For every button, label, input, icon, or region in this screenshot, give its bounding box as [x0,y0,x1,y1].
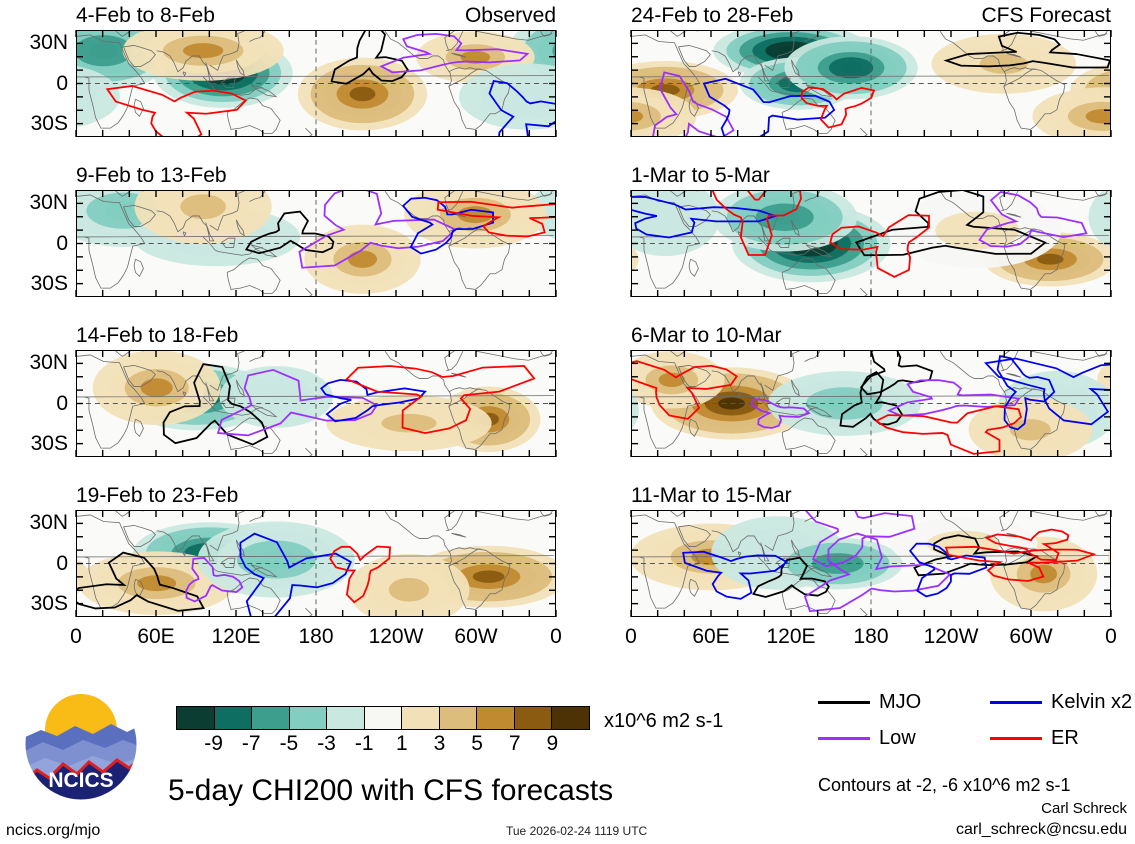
map-canvas [632,511,1110,616]
contour-fill-band [840,62,862,73]
y-axis-tick-label: 30N [8,191,68,215]
colorbar-swatch [290,707,328,729]
colorbar-tick-label: -5 [280,732,299,756]
y-axis-tick-label: 0 [8,552,68,576]
colorbar-swatch [440,707,478,729]
x-axis-tick-label: 120W [369,625,424,649]
legend-item-kelvin-x2: Kelvin x2 [990,692,1132,712]
x-axis-tick-label: 180 [853,625,888,649]
legend-item-mjo: MJO [818,692,921,712]
colorbar: -9-7-5-3-113579 [176,706,590,730]
map-panel: 6-Mar to 10-Mar [631,350,1111,457]
colorbar-tick-label: -3 [317,732,336,756]
y-axis-tick-label: 30N [8,351,68,375]
legend-item-er: ER [990,728,1079,748]
colorbar-swatch [552,707,589,729]
legend-line-swatch [990,701,1042,704]
panel-title: 11-Mar to 15-Mar [631,485,792,506]
colorbar-swatch [477,707,515,729]
map-plot-area [76,190,556,297]
colorbar-units-label: x10^6 m2 s-1 [604,710,723,733]
contour-note: Contours at -2, -6 x10^6 m2 s-1 [818,775,1071,796]
map-plot-area [76,30,556,137]
colorbar-swatch [515,707,553,729]
colorbar-tick-label: 3 [434,732,446,756]
contour-fill-band [1030,565,1057,584]
y-axis-tick-label: 30S [8,592,68,616]
map-canvas [632,191,1110,296]
x-axis-tick-label: 0 [70,625,82,649]
contour-fill-band [350,87,376,102]
colorbar-tick-label: -1 [355,732,374,756]
map-plot-area [631,350,1111,457]
y-axis-tick-label: 0 [8,232,68,256]
colorbar-tick-label: -9 [204,732,223,756]
contour-fill-band [505,86,551,108]
page-title: 5-day CHI200 with CFS forecasts [168,774,613,808]
contour-fill-band [473,570,505,582]
contour-fill-band [183,43,223,58]
x-axis-tick-label: 60E [137,625,174,649]
colorbar-tick-label: 1 [396,732,408,756]
panel-title: 14-Feb to 18-Feb [76,325,238,346]
x-axis-tick-label: 120E [766,625,815,649]
ncics-logo-text: NCICS [48,769,113,792]
legend-label: Kelvin x2 [1051,692,1132,712]
legend-line-swatch [818,701,870,704]
contour-fill-band [180,194,226,219]
map-panel: 24-Feb to 28-FebCFS Forecast [631,30,1111,137]
colorbar-swatch [215,707,253,729]
map-canvas [632,351,1110,456]
legend-label: MJO [879,692,921,712]
colorbar-swatch [177,707,215,729]
contour-fill-band [257,387,295,408]
legend-item-low: Low [818,728,916,748]
map-panel: 11-Mar to 15-Mar060E120E180120W60W0 [631,510,1111,617]
contour-fill-band [141,378,173,397]
x-axis-tick-label: 60W [1009,625,1052,649]
map-canvas [77,351,555,456]
x-axis: 060E120E180120W60W0 [631,617,1111,647]
legend-line-swatch [990,737,1042,740]
colorbar-tick-label: 7 [509,732,521,756]
author-name: Carl Schreck [1041,800,1127,817]
map-canvas [77,31,555,136]
contour-fill-band [348,251,377,268]
colorbar-swatch [327,707,365,729]
legend-line-swatch [818,737,870,740]
x-axis-tick-label: 120E [211,625,260,649]
legend-label: Low [879,728,916,748]
map-plot-area [76,510,556,617]
y-axis-tick-label: 30N [8,31,68,55]
map-panel: 19-Feb to 23-Feb30N030S060E120E180120W60… [76,510,556,617]
x-axis-tick-label: 60W [454,625,497,649]
map-panel: 9-Feb to 13-Feb30N030S [76,190,556,297]
x-axis: 060E120E180120W60W0 [76,617,556,647]
colorbar-swatches [176,706,590,730]
colorbar-tick-label: 5 [471,732,483,756]
map-panel: 14-Feb to 18-Feb30N030S [76,350,556,457]
map-canvas [77,191,555,296]
panel-title: 4-Feb to 8-Feb [76,5,215,26]
y-axis-tick-label: 30S [8,272,68,296]
map-plot-area [631,190,1111,297]
x-axis-tick-label: 120W [924,625,979,649]
y-axis-tick-label: 30N [8,511,68,535]
panel-column-header: Observed [465,5,556,26]
panel-title: 9-Feb to 13-Feb [76,165,227,186]
x-axis-tick-label: 60E [692,625,729,649]
ncics-logo-icon: NCICS [23,686,139,802]
timestamp: Tue 2026-02-24 1119 UTC [506,824,647,838]
panel-column-header: CFS Forecast [981,5,1111,26]
colorbar-swatch [365,707,403,729]
mjo-chi200-figure: 4-Feb to 8-FebObserved30N030S9-Feb to 13… [0,0,1135,844]
x-axis-tick-label: 0 [1105,625,1117,649]
y-axis-tick-label: 0 [8,392,68,416]
site-url[interactable]: ncics.org/mjo [6,822,100,840]
y-axis-tick-label: 0 [8,72,68,96]
colorbar-swatch [252,707,290,729]
contour-fill-band [770,210,799,224]
map-plot-area [631,510,1111,617]
ncics-logo: NCICS [23,686,139,802]
colorbar-swatch [402,707,440,729]
contour-fill-band [89,43,118,59]
panel-title: 19-Feb to 23-Feb [76,485,238,506]
contour-fill-band [389,578,429,602]
y-axis-tick-label: 30S [8,112,68,136]
panel-title: 24-Feb to 28-Feb [631,5,793,26]
x-axis-tick-label: 0 [550,625,562,649]
x-axis-tick-label: 0 [625,625,637,649]
map-panel: 4-Feb to 8-FebObserved30N030S [76,30,556,137]
map-panel: 1-Mar to 5-Mar [631,190,1111,297]
colorbar-tick-labels: -9-7-5-3-113579 [176,732,590,756]
map-plot-area [631,30,1111,137]
author-email: carl_schreck@ncsu.edu [956,821,1127,839]
x-axis-tick-label: 180 [298,625,333,649]
colorbar-tick-label: 9 [547,732,559,756]
y-axis-tick-label: 30S [8,432,68,456]
map-canvas [632,31,1110,136]
legend-label: ER [1051,728,1079,748]
wave-legend: MJOLowKelvin x2ER [818,692,1128,762]
colorbar-tick-label: -7 [242,732,261,756]
panel-title: 1-Mar to 5-Mar [631,165,770,186]
map-canvas [77,511,555,616]
map-plot-area [76,350,556,457]
panel-title: 6-Mar to 10-Mar [631,325,782,346]
